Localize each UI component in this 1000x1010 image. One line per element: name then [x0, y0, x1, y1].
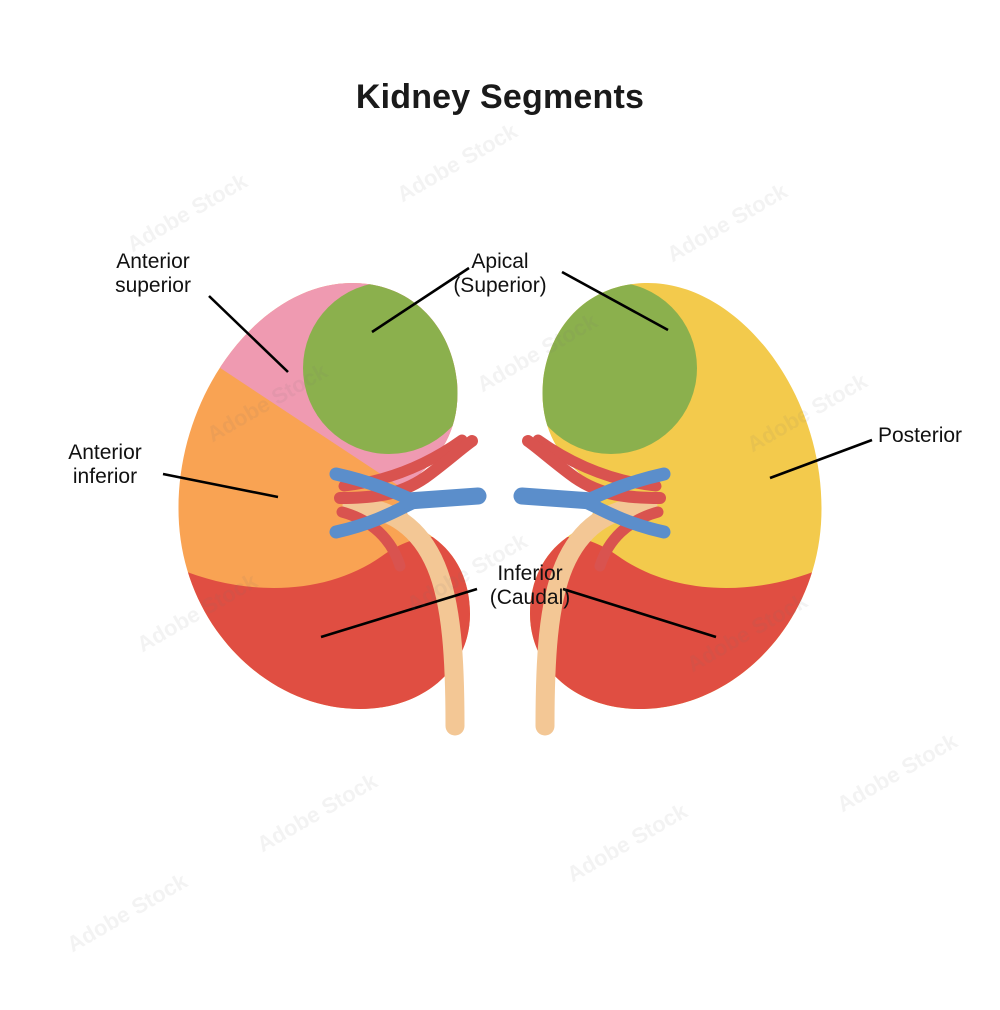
segment-apical-right: [525, 282, 697, 454]
label-inferior: Inferior (Caudal): [440, 562, 620, 611]
label-anterior-inferior: Anterior inferior: [25, 441, 185, 490]
renal-vein-left-trunk: [408, 496, 478, 501]
diagram-canvas: Kidney Segments: [0, 0, 1000, 1000]
label-apical: Apical (Superior): [410, 250, 590, 299]
label-anterior-superior: Anterior superior: [63, 250, 243, 299]
segment-apical-left: [303, 282, 475, 454]
label-posterior: Posterior: [878, 424, 1000, 448]
kidney-segments-illustration: [0, 0, 1000, 1000]
renal-vein-right-trunk: [522, 496, 592, 501]
